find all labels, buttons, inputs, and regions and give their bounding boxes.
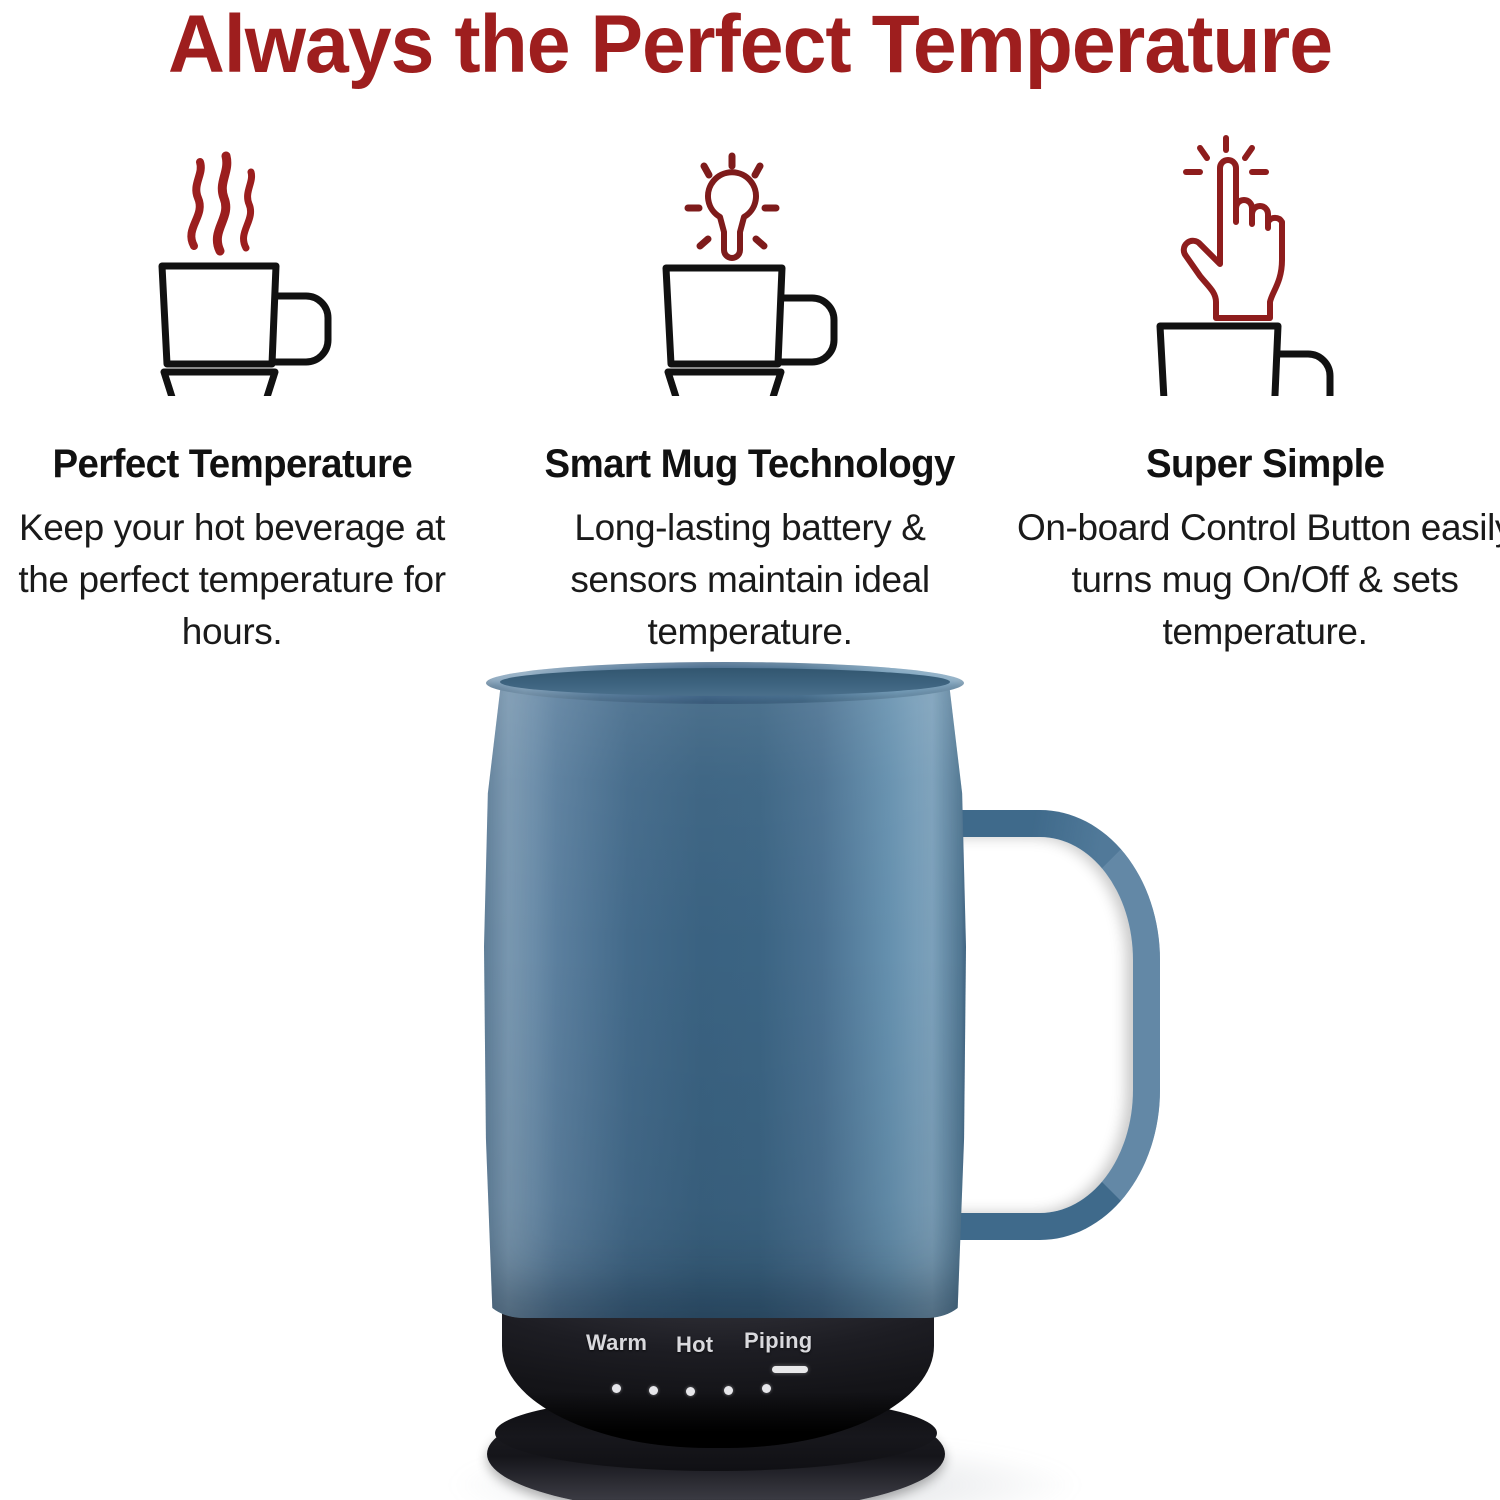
feature-body: Keep your hot beverage at the perfect te… <box>0 502 472 658</box>
mug-control-base <box>502 1298 934 1448</box>
mug-body <box>484 678 966 1318</box>
page-title: Always the Perfect Temperature <box>30 2 1470 88</box>
feature-columns: Perfect Temperature Keep your hot bevera… <box>0 96 1500 656</box>
feature-body: Long-lasting battery & sensors maintain … <box>510 502 990 658</box>
mug-interior <box>500 668 950 696</box>
mug-with-tap-hand-icon <box>1100 96 1400 396</box>
mug-with-steam-icon <box>100 96 400 396</box>
feature-column-smart-mug-technology: Smart Mug Technology Long-lasting batter… <box>500 96 1000 656</box>
product-feature-banner: Always the Perfect Temperature <box>0 0 1500 1500</box>
feature-body: On-board Control Button easily turns mug… <box>1015 502 1500 658</box>
feature-title: Perfect Temperature <box>52 440 412 488</box>
mug-with-lightbulb-icon <box>600 96 900 396</box>
feature-title: Super Simple <box>1146 440 1385 488</box>
feature-column-perfect-temperature: Perfect Temperature Keep your hot bevera… <box>0 96 500 656</box>
feature-column-super-simple: Super Simple On-board Control Button eas… <box>1000 96 1500 656</box>
feature-title: Smart Mug Technology <box>545 440 955 488</box>
product-image-smart-mug: Warm Hot Piping <box>0 650 1500 1500</box>
